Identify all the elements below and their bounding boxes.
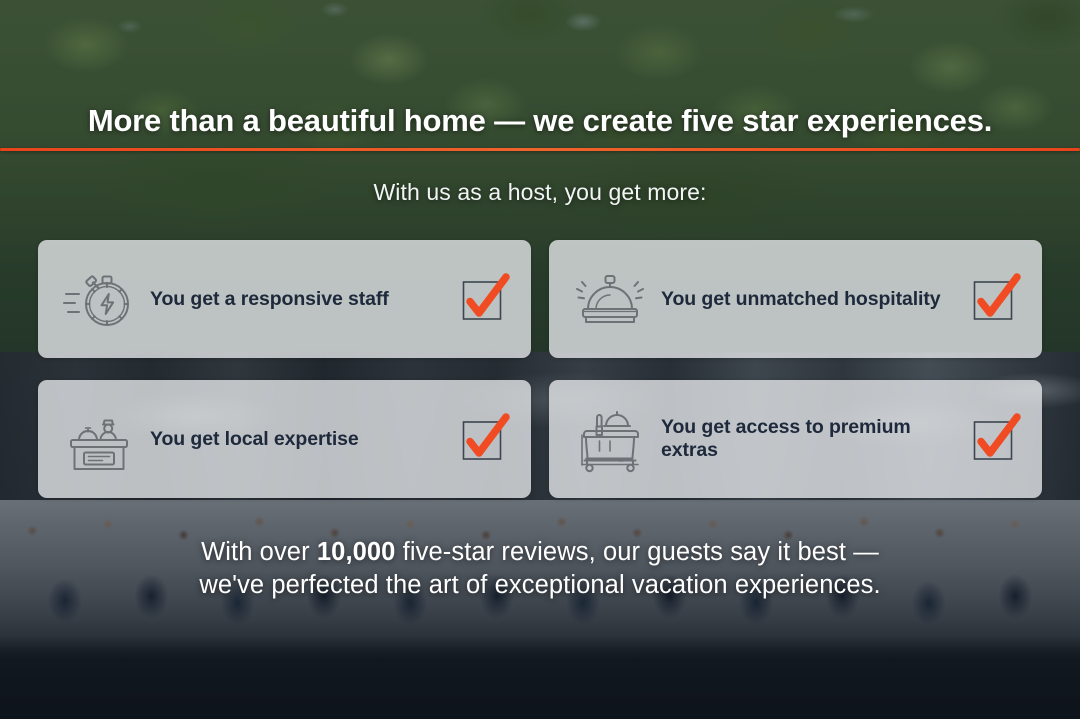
room-service-cart-icon xyxy=(573,404,647,474)
benefit-label: You get local expertise xyxy=(136,428,461,451)
checkbox-checked[interactable] xyxy=(972,416,1018,462)
benefit-label: You get unmatched hospitality xyxy=(647,288,972,311)
benefits-grid: You get a responsive staff xyxy=(38,240,1042,498)
benefit-label: You get access to premium extras xyxy=(647,416,972,462)
closing-line-2: we've perfected the art of exceptional v… xyxy=(0,569,1080,602)
headline-block: More than a beautiful home — we create f… xyxy=(0,104,1080,151)
checkbox-checked[interactable] xyxy=(461,416,507,462)
benefit-card-premium-extras[interactable]: You get access to premium extras xyxy=(549,380,1042,498)
benefit-card-local-expertise[interactable]: You get local expertise xyxy=(38,380,531,498)
marketing-hero-section: More than a beautiful home — we create f… xyxy=(0,0,1080,719)
checkbox-checked[interactable] xyxy=(972,276,1018,322)
hero-content: More than a beautiful home — we create f… xyxy=(0,0,1080,719)
page-title: More than a beautiful home — we create f… xyxy=(88,104,992,139)
benefit-label: You get a responsive staff xyxy=(136,288,461,311)
closing-text-before: With over xyxy=(201,538,317,566)
closing-line-1: With over 10,000 five-star reviews, our … xyxy=(0,536,1080,569)
headline-underline-accent xyxy=(0,148,1080,151)
review-count: 10,000 xyxy=(317,538,396,566)
service-bell-icon xyxy=(573,264,647,334)
benefit-card-unmatched-hospitality[interactable]: You get unmatched hospitality xyxy=(549,240,1042,358)
closing-statement: With over 10,000 five-star reviews, our … xyxy=(0,536,1080,601)
checkbox-checked[interactable] xyxy=(461,276,507,322)
benefit-card-responsive-staff[interactable]: You get a responsive staff xyxy=(38,240,531,358)
concierge-desk-icon xyxy=(62,404,136,474)
stopwatch-speed-icon xyxy=(62,264,136,334)
closing-text-after: five-star reviews, our guests say it bes… xyxy=(395,538,878,566)
subheadline: With us as a host, you get more: xyxy=(0,179,1080,206)
